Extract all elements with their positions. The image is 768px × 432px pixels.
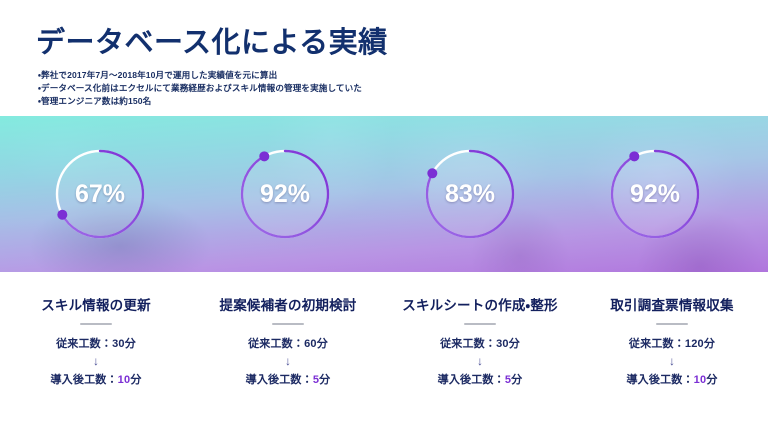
metric-column: 取引調査票情報収集 従来工数：120分 ↓ 導入後工数：10分 (576, 272, 768, 432)
down-arrow-icon: ↓ (192, 355, 384, 367)
metric-after-value: 10 (118, 374, 131, 386)
metric-title: 提案候補者の初期検討 (192, 294, 384, 314)
down-arrow-icon: ↓ (576, 355, 768, 367)
metric-after: 導入後工数：10分 (0, 371, 192, 387)
photo-band: 67% 92% (0, 116, 768, 272)
metric-column: 提案候補者の初期検討 従来工数：60分 ↓ 導入後工数：5分 (192, 272, 384, 432)
bullet-item: ・弊社で2017年7月〜2018年10月で運用した実績値を元に算出 (38, 69, 738, 82)
bullet-item: ・データベース化前はエクセルにて業務経歴およびスキル情報の管理を実施していた (38, 82, 738, 95)
metric-divider (464, 323, 496, 325)
metric-column: スキル情報の更新 従来工数：30分 ↓ 導入後工数：10分 (0, 272, 192, 432)
metric-after-value: 10 (694, 374, 707, 386)
metric-column: スキルシートの作成・整形 従来工数：30分 ↓ 導入後工数：5分 (384, 272, 576, 432)
metric-before: 従来工数：30分 (384, 335, 576, 351)
metric-after-suffix: 分 (511, 374, 522, 386)
ring-value-label: 92% (239, 148, 331, 240)
metric-after-prefix: 導入後工数： (50, 374, 117, 386)
metric-before: 従来工数：60分 (192, 335, 384, 351)
metric-divider (80, 323, 112, 325)
metric-title: スキル情報の更新 (0, 294, 192, 314)
ring-value-label: 67% (54, 148, 146, 240)
metric-after: 導入後工数：5分 (192, 371, 384, 387)
slide-root: データベース化による実績 ・弊社で2017年7月〜2018年10月で運用した実績… (0, 0, 768, 432)
bullet-list: ・弊社で2017年7月〜2018年10月で運用した実績値を元に算出 ・データベー… (38, 69, 738, 108)
slide-header: データベース化による実績 ・弊社で2017年7月〜2018年10月で運用した実績… (0, 0, 768, 116)
metric-after-prefix: 導入後工数： (438, 374, 505, 386)
page-title: データベース化による実績 (36, 28, 388, 60)
ring-value-label: 83% (424, 148, 516, 240)
metric-title: スキルシートの作成・整形 (384, 294, 576, 314)
metric-divider (272, 323, 304, 325)
progress-ring-3: 83% (424, 148, 516, 240)
metric-after-suffix: 分 (130, 374, 141, 386)
down-arrow-icon: ↓ (384, 355, 576, 367)
bullet-item: ・管理エンジニア数は約150名 (38, 95, 738, 108)
down-arrow-icon: ↓ (0, 355, 192, 367)
metric-after-suffix: 分 (319, 374, 330, 386)
progress-ring-4: 92% (609, 148, 701, 240)
progress-ring-1: 67% (54, 148, 146, 240)
metric-after: 導入後工数：5分 (384, 371, 576, 387)
progress-ring-2: 92% (239, 148, 331, 240)
metrics-columns: スキル情報の更新 従来工数：30分 ↓ 導入後工数：10分 提案候補者の初期検討… (0, 272, 768, 432)
metric-after-prefix: 導入後工数： (626, 374, 693, 386)
ring-value-label: 92% (609, 148, 701, 240)
metric-before: 従来工数：120分 (576, 335, 768, 351)
metric-divider (656, 323, 688, 325)
metric-after-prefix: 導入後工数： (246, 374, 313, 386)
metric-before: 従来工数：30分 (0, 335, 192, 351)
metric-after: 導入後工数：10分 (576, 371, 768, 387)
metric-after-suffix: 分 (706, 374, 717, 386)
metric-title: 取引調査票情報収集 (576, 294, 768, 314)
